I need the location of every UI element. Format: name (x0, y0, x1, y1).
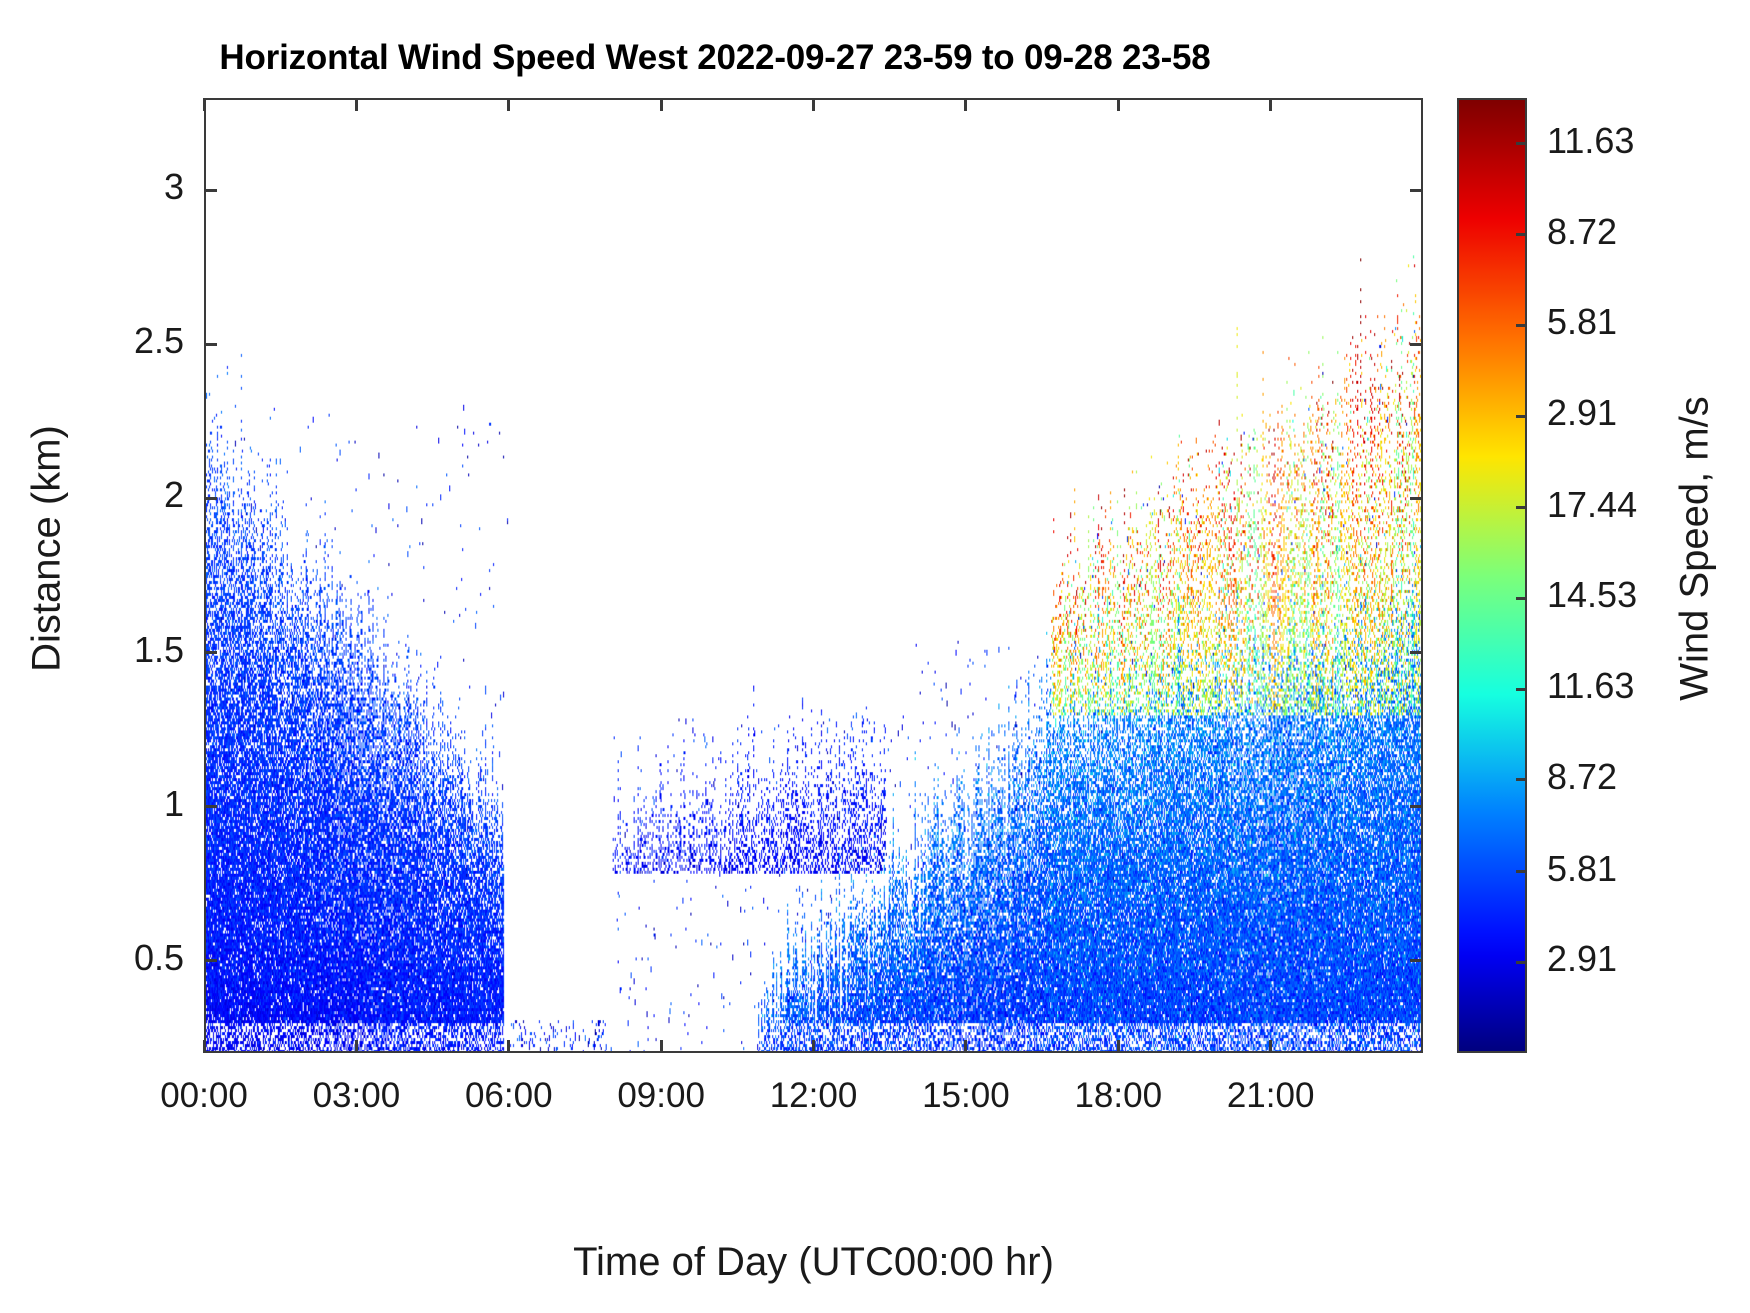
x-tick-mark-top (1117, 98, 1120, 111)
colorbar-tick-mark (1516, 142, 1527, 145)
x-tick-mark-top (812, 98, 815, 111)
colorbar-tick-mark (1516, 870, 1527, 873)
x-tick-mark (355, 1040, 358, 1053)
colorbar-tick-label: 11.63 (1547, 665, 1634, 707)
chart-figure: Horizontal Wind Speed West 2022-09-27 23… (0, 0, 1750, 1313)
plot-area (204, 98, 1423, 1053)
x-tick-label: 21:00 (1161, 1076, 1381, 1116)
colorbar-tick-mark (1516, 415, 1527, 418)
x-tick-mark (812, 1040, 815, 1053)
y-tick-mark-right (1410, 651, 1423, 654)
y-tick-label: 1 (0, 783, 184, 825)
y-tick-mark (204, 189, 217, 192)
y-tick-mark-right (1410, 189, 1423, 192)
x-tick-mark (1269, 1040, 1272, 1053)
colorbar-tick-label: 14.53 (1547, 574, 1637, 616)
y-axis-label: Distance (km) (25, 339, 70, 759)
colorbar-gradient (1459, 100, 1525, 1051)
colorbar-tick-mark (1516, 597, 1527, 600)
x-tick-mark (203, 1040, 206, 1053)
heatmap-canvas (206, 100, 1421, 1051)
y-tick-label: 0.5 (0, 937, 184, 979)
x-tick-mark-top (355, 98, 358, 111)
x-axis-label: Time of Day (UTC00:00 hr) (204, 1240, 1423, 1285)
colorbar (1457, 98, 1527, 1053)
colorbar-tick-mark (1516, 324, 1527, 327)
colorbar-tick-label: 2.91 (1547, 392, 1617, 434)
x-tick-mark-top (660, 98, 663, 111)
colorbar-tick-mark (1516, 961, 1527, 964)
y-tick-mark (204, 343, 217, 346)
colorbar-label: Wind Speed, m/s (1673, 339, 1718, 759)
x-tick-mark-top (1269, 98, 1272, 111)
x-tick-mark-top (964, 98, 967, 111)
colorbar-tick-mark (1516, 778, 1527, 781)
y-tick-mark-right (1410, 497, 1423, 500)
x-tick-mark (964, 1040, 967, 1053)
x-tick-mark (1117, 1040, 1120, 1053)
colorbar-tick-label: 5.81 (1547, 848, 1617, 890)
x-tick-mark-top (507, 98, 510, 111)
y-tick-mark (204, 805, 217, 808)
colorbar-tick-label: 11.63 (1547, 120, 1634, 162)
colorbar-tick-label: 17.44 (1547, 484, 1637, 526)
chart-title: Horizontal Wind Speed West 2022-09-27 23… (0, 38, 1430, 78)
y-tick-mark-right (1410, 343, 1423, 346)
x-tick-mark-top (203, 98, 206, 111)
y-tick-label: 3 (0, 166, 184, 208)
y-tick-mark (204, 651, 217, 654)
colorbar-tick-label: 5.81 (1547, 301, 1617, 343)
colorbar-tick-mark (1516, 506, 1527, 509)
colorbar-tick-label: 8.72 (1547, 211, 1617, 253)
x-tick-mark (660, 1040, 663, 1053)
colorbar-tick-label: 8.72 (1547, 756, 1617, 798)
y-tick-mark-right (1410, 805, 1423, 808)
colorbar-tick-mark (1516, 233, 1527, 236)
colorbar-tick-label: 2.91 (1547, 938, 1617, 980)
y-tick-mark-right (1410, 959, 1423, 962)
x-tick-mark (507, 1040, 510, 1053)
y-tick-mark (204, 959, 217, 962)
y-tick-mark (204, 497, 217, 500)
colorbar-tick-mark (1516, 688, 1527, 691)
